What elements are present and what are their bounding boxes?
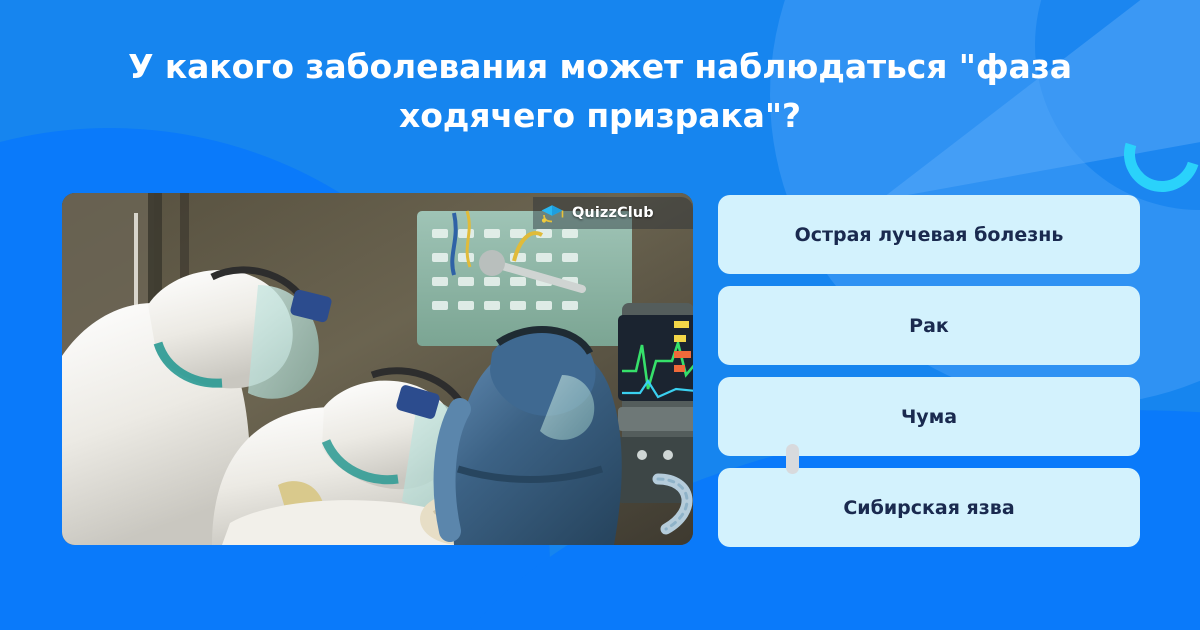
brand-name: QuizzClub: [572, 205, 654, 221]
answer-option-3[interactable]: Чума: [718, 377, 1140, 456]
answer-option-2[interactable]: Рак: [718, 286, 1140, 365]
question-title: У какого заболевания может наблюдаться "…: [60, 42, 1140, 140]
answer-option-4-label: Сибирская язва: [843, 497, 1014, 519]
question-image: [62, 193, 693, 545]
answer-option-3-label: Чума: [901, 406, 957, 428]
quiz-card: У какого заболевания может наблюдаться "…: [0, 0, 1200, 630]
graduation-cap-icon: [539, 202, 565, 224]
answer-options-list: Острая лучевая болезнь Рак Чума Сибирска…: [718, 195, 1140, 547]
brand-badge[interactable]: QuizzClub: [533, 197, 693, 229]
answer-option-1[interactable]: Острая лучевая болезнь: [718, 195, 1140, 274]
icu-scene-illustration: [62, 193, 693, 545]
answer-option-1-label: Острая лучевая болезнь: [795, 224, 1064, 246]
answer-option-4[interactable]: Сибирская язва: [718, 468, 1140, 547]
scroll-indicator-pip[interactable]: [786, 444, 799, 474]
answer-option-2-label: Рак: [909, 315, 949, 337]
